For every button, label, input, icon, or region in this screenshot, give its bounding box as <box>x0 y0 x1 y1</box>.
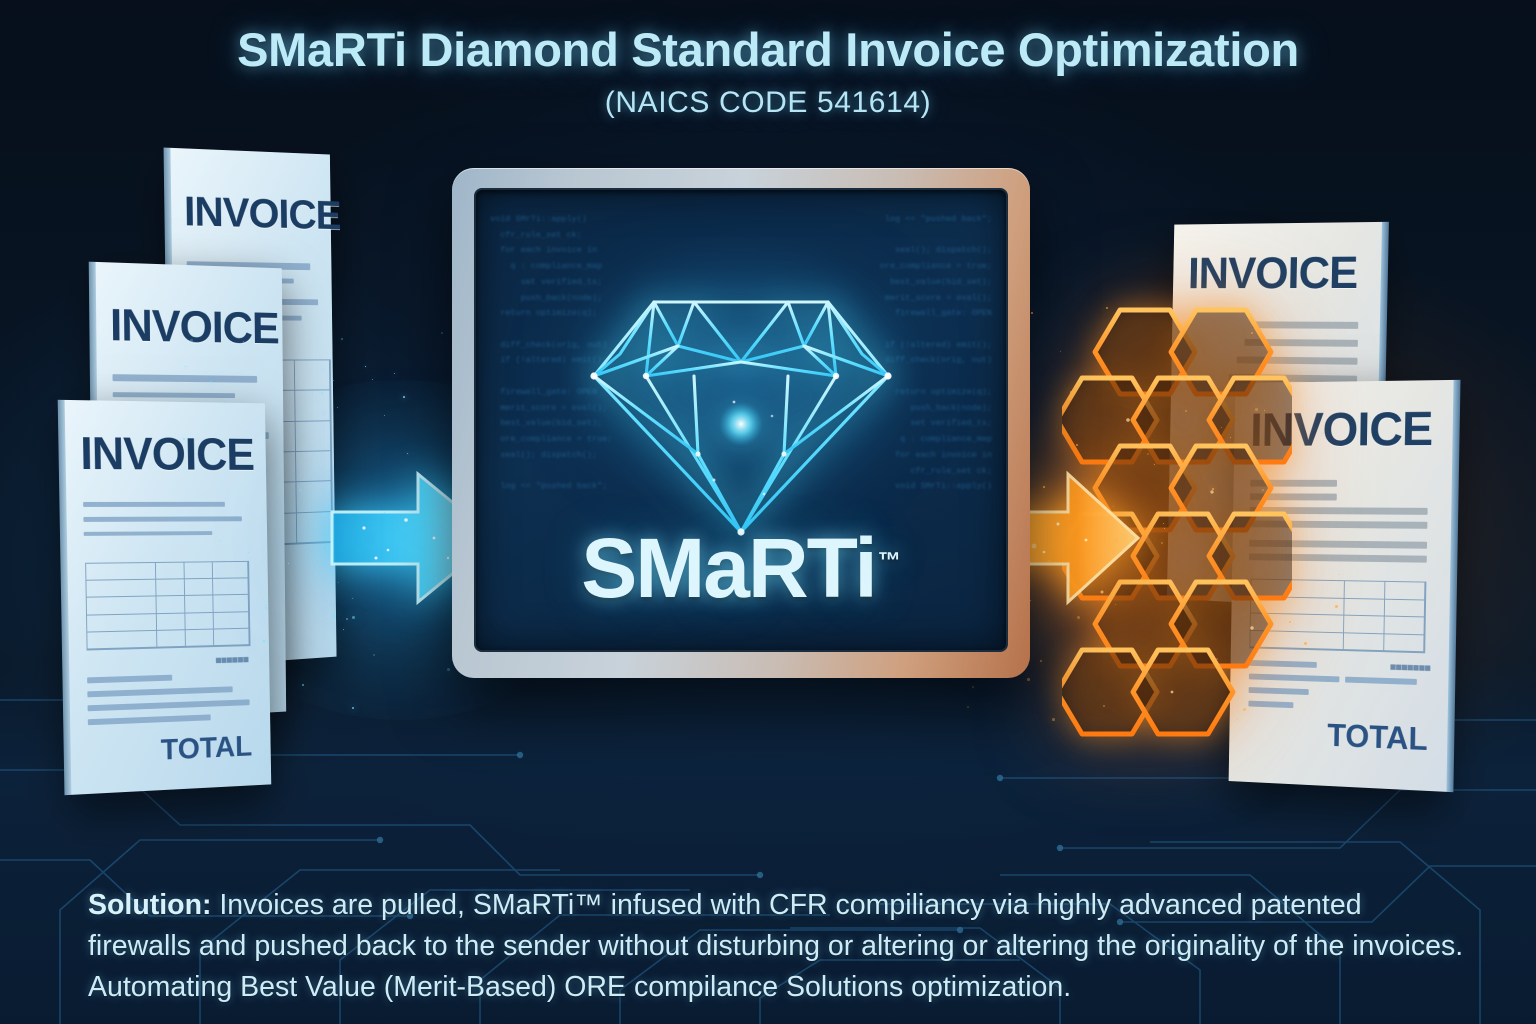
invoice-table <box>85 561 250 651</box>
caption-body: Invoices are pulled, SMaRTi™ infused wit… <box>88 889 1463 1003</box>
invoice-rule <box>84 531 213 536</box>
invoice-rule <box>1345 677 1417 685</box>
invoice-rule <box>112 374 257 383</box>
blue-spark-particle <box>352 616 355 619</box>
blue-spark-particle <box>394 373 395 374</box>
invoice-total-label: TOTAL <box>1327 717 1428 758</box>
diamond-wireframe-icon <box>586 284 896 540</box>
blue-spark-particle <box>373 654 375 656</box>
invoice-subtotal-text: ▄▄▄▄▄▄▄ <box>1390 660 1431 671</box>
page-title: SMaRTi Diamond Standard Invoice Optimiza… <box>0 22 1536 77</box>
blue-spark-particle <box>441 332 443 334</box>
invoice-rule <box>88 714 211 725</box>
orange-spark-particle <box>1031 312 1033 314</box>
brand-name: SMaRTi <box>581 521 876 615</box>
invoice-rule <box>83 516 242 522</box>
invoice-rule <box>113 392 235 398</box>
blue-spark-particle <box>407 453 408 454</box>
invoice-heading: INVOICE <box>1188 250 1358 295</box>
blue-spark-particle <box>384 415 385 416</box>
solution-caption: Solution: Invoices are pulled, SMaRTi™ i… <box>88 885 1464 1008</box>
monitor-screen: void SMrTi::apply() cfr_rule_set ck; for… <box>474 188 1008 652</box>
blue-spark-particle <box>343 629 344 630</box>
blue-spark-particle <box>365 366 366 367</box>
invoice-heading: INVOICE <box>110 302 279 350</box>
blue-spark-particle <box>346 618 348 620</box>
invoice-rule <box>83 502 225 507</box>
invoice-total-label: TOTAL <box>161 730 253 767</box>
invoice-in-3: INVOICE ▄▄▄▄▄▄ TOTAL <box>65 400 272 795</box>
page-subtitle: (NAICS CODE 541614) <box>0 86 1536 120</box>
blue-spark-particle <box>341 338 343 340</box>
blue-spark-particle <box>333 380 334 381</box>
caption-label: Solution: <box>88 889 211 921</box>
blue-spark-particle <box>337 407 338 408</box>
invoice-heading: INVOICE <box>184 190 341 236</box>
blue-spark-particle <box>372 379 373 380</box>
infographic-canvas: SMaRTi Diamond Standard Invoice Optimiza… <box>0 0 1536 1024</box>
blue-spark-particle <box>403 396 405 398</box>
header: SMaRTi Diamond Standard Invoice Optimiza… <box>0 22 1536 120</box>
trademark-symbol: ™ <box>878 547 901 573</box>
invoice-subtotal-text: ▄▄▄▄▄▄ <box>216 653 249 664</box>
monitor: void SMrTi::apply() cfr_rule_set ck; for… <box>452 168 1030 678</box>
monitor-bezel: void SMrTi::apply() cfr_rule_set ck; for… <box>452 168 1030 678</box>
invoice-rule <box>88 699 250 711</box>
invoice-heading: INVOICE <box>80 430 254 477</box>
invoice-rule <box>87 686 232 697</box>
orange-spark-particle <box>1060 351 1061 352</box>
invoice-rule <box>87 675 172 684</box>
brand-wordmark: SMaRTi™ <box>476 520 1006 617</box>
